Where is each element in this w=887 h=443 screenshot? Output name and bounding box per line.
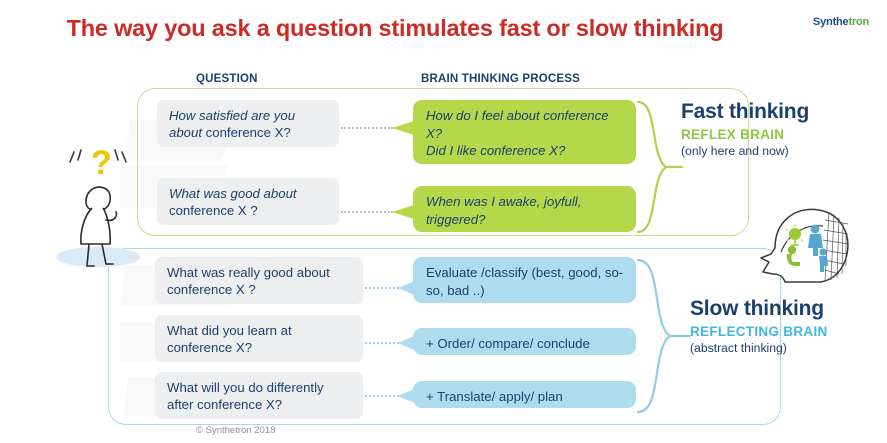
bubble-tail-icon: [398, 336, 414, 350]
bubble-tail-icon: [398, 389, 414, 403]
process-box: How do I feel about conference X? Did I …: [413, 100, 636, 164]
bubble-tail-icon: [392, 121, 414, 135]
logo-text-primary: Synthe: [813, 16, 848, 28]
fast-subheading: REFLEX BRAIN: [681, 127, 809, 142]
question-box: What will you do differently after confe…: [155, 372, 363, 419]
question-box: What was good about conference X ?: [157, 178, 339, 225]
label-slow-thinking: Slow thinking REFLECTING BRAIN (abstract…: [690, 297, 828, 355]
connector-dotted: [365, 342, 399, 344]
question-box: What was really good about conference X …: [155, 257, 363, 304]
question-text-regular: conference X?: [206, 125, 291, 140]
question-box: How satisfied are you about conference X…: [157, 100, 339, 147]
label-fast-thinking: Fast thinking REFLEX BRAIN (only here an…: [681, 100, 809, 158]
copyright-text: © Synthetron 2018: [196, 425, 275, 436]
slow-note: (abstract thinking): [690, 341, 828, 355]
bubble-tail-icon: [398, 281, 414, 295]
process-box: + Translate/ apply/ plan: [413, 381, 636, 408]
slow-subheading: REFLECTING BRAIN: [690, 324, 828, 339]
slide-canvas: The way you ask a question stimulates fa…: [0, 0, 887, 443]
question-text-italic: What was good about: [169, 186, 297, 201]
logo-text-secondary: tron: [848, 16, 869, 28]
brain-head-profile-figure: [745, 196, 865, 301]
process-box: When was I awake, joyfull, triggered?: [413, 186, 636, 232]
column-header-question: QUESTION: [196, 73, 258, 85]
question-box: What did you learn at conference X?: [155, 315, 363, 362]
question-mark-icon: ?: [91, 144, 112, 182]
question-text-regular: conference X ?: [169, 203, 258, 218]
process-box: Evaluate /classify (best, good, so-so, b…: [413, 257, 636, 303]
connector-dotted: [341, 211, 393, 213]
connector-dotted: [365, 395, 399, 397]
connector-dotted: [365, 287, 399, 289]
bubble-tail-icon: [392, 205, 414, 219]
brace-slow-icon: [636, 252, 692, 420]
thinking-person-figure: ?: [48, 140, 164, 270]
column-header-brain-process: BRAIN THINKING PROCESS: [421, 73, 580, 85]
process-box: + Order/ compare/ conclude: [413, 328, 636, 355]
synthetron-logo: Synthetron: [787, 8, 879, 38]
fast-note: (only here and now): [681, 144, 809, 158]
brace-fast-icon: [636, 96, 684, 238]
connector-dotted: [341, 127, 393, 129]
page-title: The way you ask a question stimulates fa…: [0, 15, 790, 42]
fast-heading: Fast thinking: [681, 100, 809, 124]
